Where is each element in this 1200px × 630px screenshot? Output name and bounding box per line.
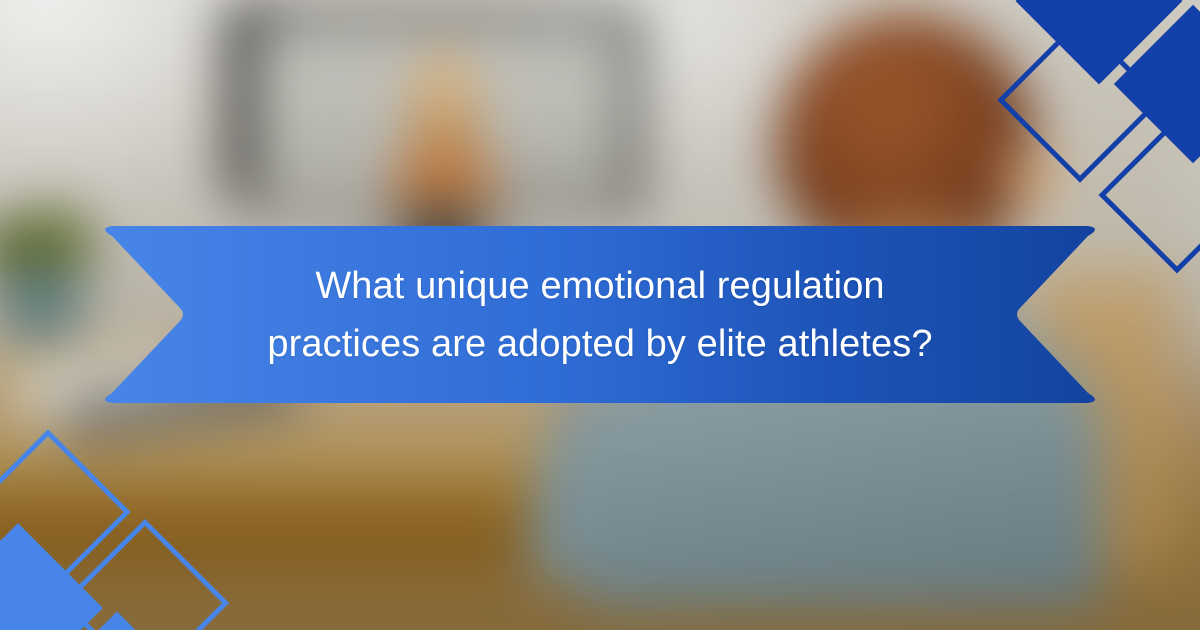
foreground-person-ear (1002, 146, 1056, 208)
question-ribbon: What unique emotional regulation practic… (98, 226, 1102, 403)
screenshot-canvas: What unique emotional regulation practic… (0, 0, 1200, 630)
shelf-line (496, 178, 614, 185)
shelf-line (496, 72, 614, 79)
video-call-participant-face (425, 72, 465, 124)
ribbon-text-block: What unique emotional regulation practic… (98, 226, 1102, 403)
potted-plant-pot (2, 270, 80, 344)
shelf-line (280, 136, 390, 143)
question-line-1: What unique emotional regulation (315, 258, 884, 314)
potted-plant-leaves (14, 192, 100, 256)
shelf-line (280, 72, 390, 79)
shelf-line (496, 136, 614, 143)
question-line-2: practices are adopted by elite athletes? (267, 316, 932, 372)
